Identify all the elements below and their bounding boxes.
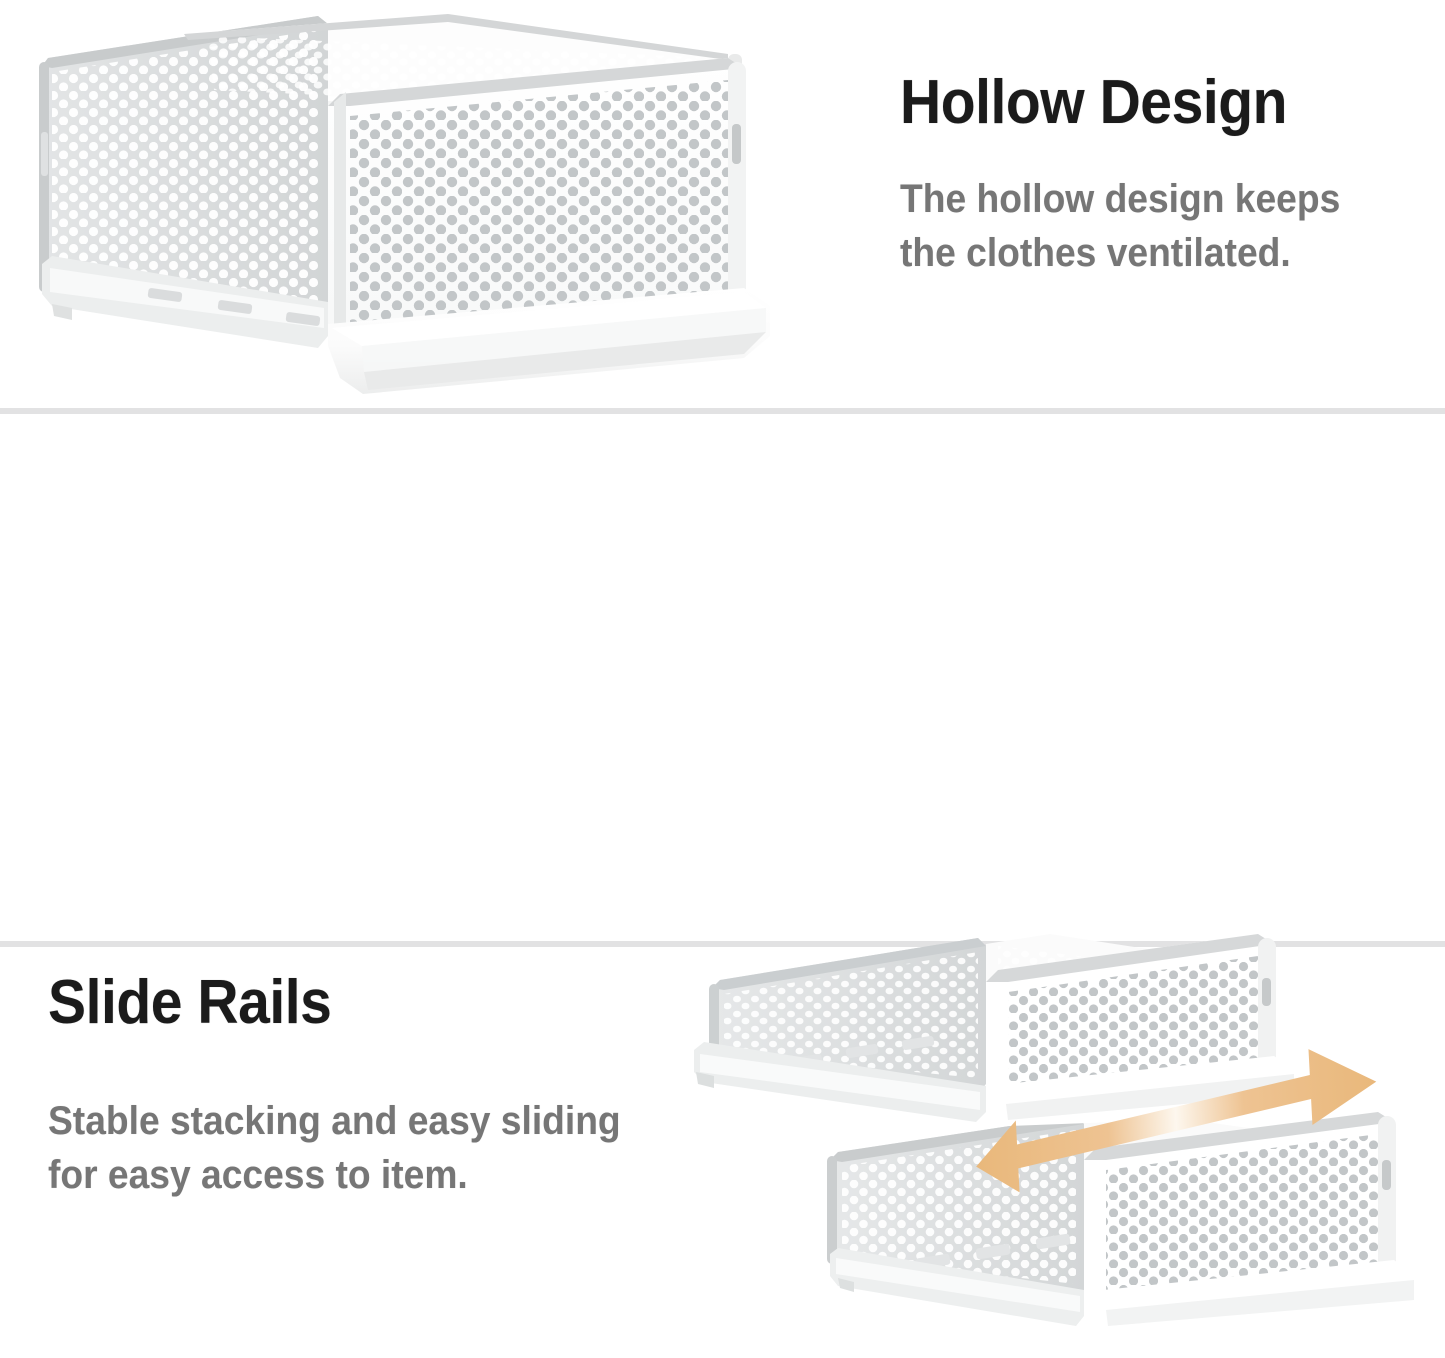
feature-panel-reinforced-snap: Reinforced Snap Reinforced buckles to in…: [0, 951, 1445, 1358]
hinge-post-right: [728, 62, 746, 312]
panel-body-line-2: the clothes ventilated.: [900, 226, 1402, 280]
product-image-hollow-design: [28, 6, 788, 396]
feature-panel-hollow-design: Hollow Design The hollow design keeps th…: [0, 0, 1445, 410]
panel-heading: Hollow Design: [900, 68, 1397, 138]
infographic-sheet: Hollow Design The hollow design keeps th…: [0, 0, 1445, 1358]
panel-body-line-1: The hollow design keeps: [900, 172, 1402, 226]
feature-panel-slide-rails: Slide Rails Stable stacking and easy sli…: [0, 416, 1445, 945]
feature-text-hollow-design: Hollow Design The hollow design keeps th…: [900, 68, 1440, 280]
